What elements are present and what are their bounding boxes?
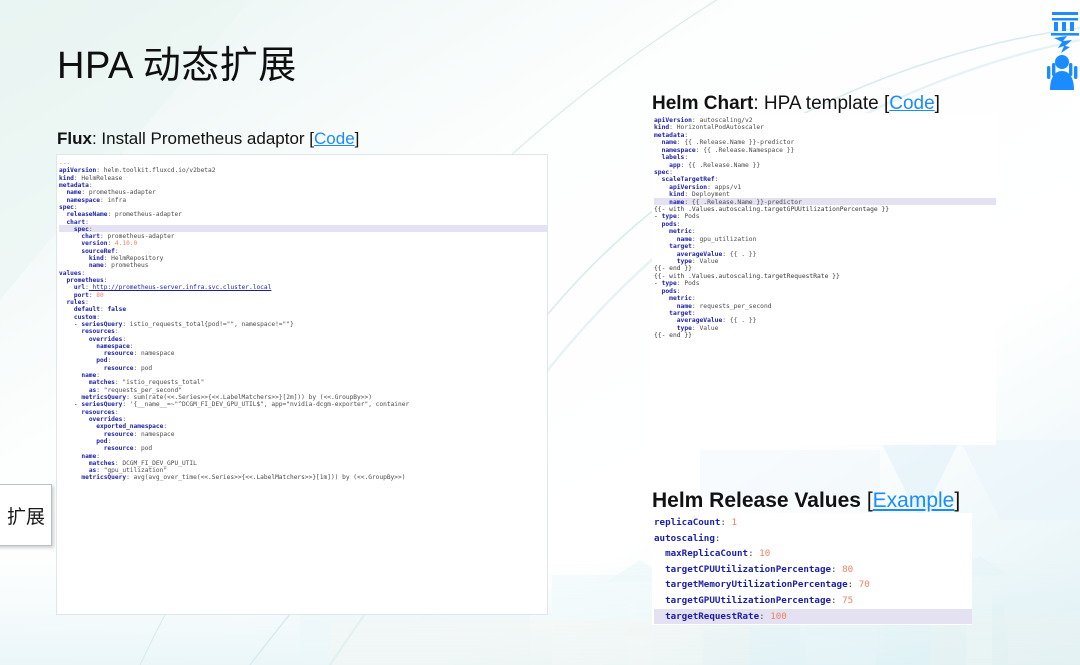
code-line: matches: DCGM_FI_DEV_GPU_UTIL — [59, 459, 547, 466]
code-line: apiVersion: helm.toolkit.fluxcd.io/v2bet… — [59, 166, 547, 173]
code-line: custom: — [59, 313, 547, 320]
code-line: pods: — [654, 220, 996, 227]
code-line: as: "requests_per_second" — [59, 386, 547, 393]
code-line: metadata: — [59, 181, 547, 188]
code-line: type: Value — [654, 324, 996, 331]
code-line: name: requests_per_second — [654, 302, 996, 309]
code-line: - type: Pods — [654, 212, 996, 219]
code-line: averageValue: {{ . }} — [654, 316, 996, 323]
code-line: resources: — [59, 408, 547, 415]
values-line: replicaCount: 1 — [654, 515, 972, 531]
code-line: app: {{ .Release.Name }} — [654, 161, 996, 168]
code-line: --- — [59, 159, 547, 166]
helm-chart-code-block[interactable]: apiVersion: autoscaling/v2kind: Horizont… — [652, 113, 996, 445]
code-line: target: — [654, 242, 996, 249]
code-line: - type: Pods — [654, 279, 996, 286]
code-line: resource: namespace — [59, 430, 547, 437]
code-line: averageValue: {{ . }} — [654, 250, 996, 257]
offscreen-panel-label: 扩展 — [7, 502, 45, 529]
code-line: type: Value — [654, 257, 996, 264]
code-line: {{- with .Values.autoscaling.targetReque… — [654, 272, 996, 279]
values-line: autoscaling: — [654, 531, 972, 547]
code-line: port: 80 — [59, 291, 547, 298]
helm-chart-section-heading: Helm Chart: HPA template [Code] — [652, 93, 940, 115]
helm-chart-code-link[interactable]: Code — [889, 93, 934, 114]
code-line: target: — [654, 309, 996, 316]
code-line: namespace: {{ .Release.Namespace }} — [654, 146, 996, 153]
code-line: {{- end }} — [654, 264, 996, 271]
code-line: name: {{ .Release.Name }}-predictor — [654, 198, 996, 205]
flux-bracket-close: ] — [355, 129, 360, 148]
code-line: spec: — [59, 203, 547, 210]
code-line: exported_namespace: — [59, 422, 547, 429]
code-line: - seriesQuery: '{__name__=~"^DCGM_FI_DEV… — [59, 400, 547, 407]
code-line: - seriesQuery: istio_requests_total{pod!… — [59, 320, 547, 327]
values-line: targetRequestRate: 100 — [654, 609, 972, 625]
code-line: chart: prometheus-adapter — [59, 232, 547, 239]
code-line: chart: — [59, 218, 547, 225]
code-line: kind: HorizontalPodAutoscaler — [654, 123, 996, 130]
helm-chart-heading-bold: Helm Chart — [652, 93, 753, 114]
code-line: name: — [59, 371, 547, 378]
code-line: rules: — [59, 298, 547, 305]
code-line: values: — [59, 269, 547, 276]
code-line: kind: HelmRelease — [59, 174, 547, 181]
code-line: name: — [59, 452, 547, 459]
code-line: labels: — [654, 153, 996, 160]
code-line: matches: "istio_requests_total" — [59, 378, 547, 385]
helm-values-code-block[interactable]: replicaCount: 1autoscaling: maxReplicaCo… — [652, 513, 972, 625]
code-line: apiVersion: autoscaling/v2 — [654, 116, 996, 123]
code-line: kind: HelmRepository — [59, 254, 547, 261]
values-line: targetMemoryUtilizationPercentage: 70 — [654, 577, 972, 593]
code-line: as: "gpu_utilization" — [59, 466, 547, 473]
code-line: resource: pod — [59, 364, 547, 371]
flux-code-link[interactable]: Code — [314, 129, 355, 148]
code-line: default: false — [59, 305, 547, 312]
page-title: HPA 动态扩展 — [57, 34, 297, 89]
code-line: metricsQuery: avg(avg_over_time(<<.Serie… — [59, 473, 547, 480]
code-line: metric: — [654, 227, 996, 234]
values-line: targetCPUUtilizationPercentage: 80 — [654, 562, 972, 578]
helm-values-section-heading: Helm Release Values [Example] — [652, 489, 960, 513]
flux-code-block[interactable]: ---apiVersion: helm.toolkit.fluxcd.io/v2… — [57, 155, 547, 614]
helm-chart-heading-rest: : HPA template — [753, 93, 884, 114]
code-line: metric: — [654, 294, 996, 301]
code-line: overrides: — [59, 415, 547, 422]
code-line: namespace: infra — [59, 196, 547, 203]
flux-section-heading: Flux: Install Prometheus adaptor [Code] — [57, 129, 359, 149]
code-line: resources: — [59, 327, 547, 334]
code-line: resource: pod — [59, 444, 547, 451]
values-line: maxReplicaCount: 10 — [654, 546, 972, 562]
helm-values-example-link[interactable]: Example — [873, 489, 955, 512]
code-line: releaseName: prometheus-adapter — [59, 210, 547, 217]
code-line: sourceRef: — [59, 247, 547, 254]
code-line: spec: — [59, 225, 547, 232]
helm-values-heading-bold: Helm Release Values — [652, 489, 867, 512]
code-line: kind: Deployment — [654, 190, 996, 197]
code-line: pod: — [59, 356, 547, 363]
code-line: url: http://prometheus-server.infra.svc.… — [59, 283, 547, 290]
code-line: name: gpu_utilization — [654, 235, 996, 242]
code-line: pods: — [654, 287, 996, 294]
helm-chart-bracket-close: ] — [935, 93, 940, 114]
code-line: {{- end }} — [654, 331, 996, 338]
flux-heading-rest: : Install Prometheus adaptor — [92, 129, 309, 148]
offscreen-panel-fragment: 扩展 — [0, 484, 52, 546]
code-line: {{- with .Values.autoscaling.targetGPUUt… — [654, 205, 996, 212]
code-line: prometheus: — [59, 276, 547, 283]
code-line: metricsQuery: sum(rate(<<.Series>>{<<.La… — [59, 393, 547, 400]
code-line: spec: — [654, 168, 996, 175]
code-line: version: 4.10.0 — [59, 239, 547, 246]
code-line: apiVersion: apps/v1 — [654, 183, 996, 190]
code-line: name: prometheus — [59, 261, 547, 268]
values-line: targetGPUUtilizationPercentage: 75 — [654, 593, 972, 609]
code-line: scaleTargetRef: — [654, 175, 996, 182]
helm-values-bracket-close: ] — [954, 489, 960, 512]
code-line: metadata: — [654, 131, 996, 138]
code-line: name: {{ .Release.Name }}-predictor — [654, 138, 996, 145]
speaker-logo — [1040, 6, 1080, 90]
code-line: resource: namespace — [59, 349, 547, 356]
code-line: name: prometheus-adapter — [59, 188, 547, 195]
flux-heading-bold: Flux — [57, 129, 92, 148]
code-line: overrides: — [59, 335, 547, 342]
code-line: namespace: — [59, 342, 547, 349]
